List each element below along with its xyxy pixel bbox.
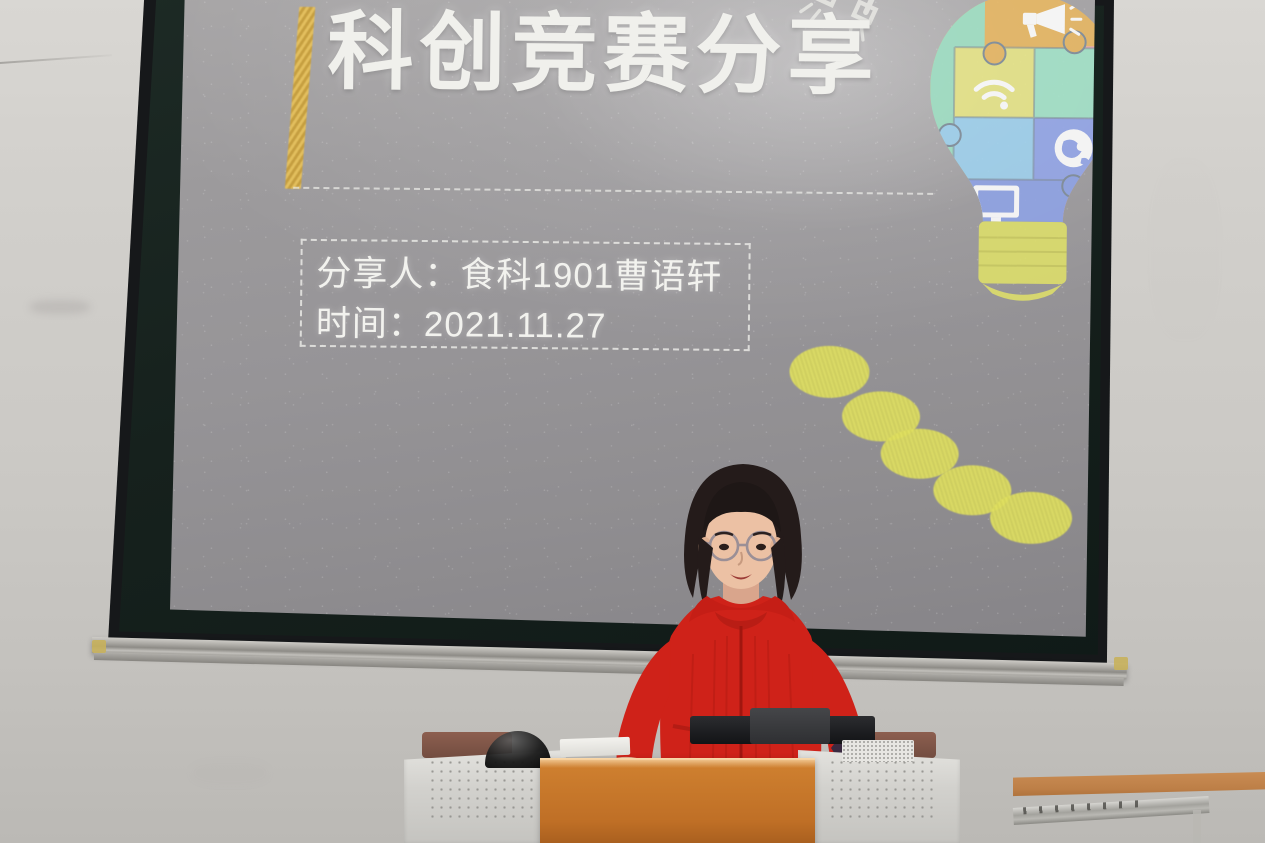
paper-sheet [560,737,631,757]
idea-blob [990,491,1072,544]
date-line: 时间：2021.11.27 [316,299,734,353]
lecture-podium [400,726,960,843]
rail-end-cap-left [92,640,106,653]
podium-wood-front [540,758,815,843]
rail-end-cap-right [1114,657,1128,670]
wall-smudge [1150,160,1220,340]
podium-right-grille [828,758,938,820]
slide-title: 科创竞赛分享 [327,0,968,113]
desk-top [1013,772,1265,800]
perforated-vent [842,740,914,762]
presenter-info-box: 分享人：食科1901曹语轩 时间：2021.11.27 [300,239,751,351]
podium-top-highlight [540,758,815,768]
classroom-photo: 科创竞赛分享 分享人：食科1901曹语轩 时间：2021.11.27 [0,0,1265,843]
wall-smudge [190,760,270,786]
av-control-riser[interactable] [750,708,830,744]
idea-blob [789,346,869,399]
side-desk [1013,772,1265,843]
bulb-base [978,221,1067,301]
presenter-line: 分享人：食科1901曹语轩 [316,249,734,303]
desk-leg [1193,810,1201,843]
globe-icon [1054,129,1092,167]
title-accent-bar [285,7,315,189]
title-divider [293,187,933,195]
